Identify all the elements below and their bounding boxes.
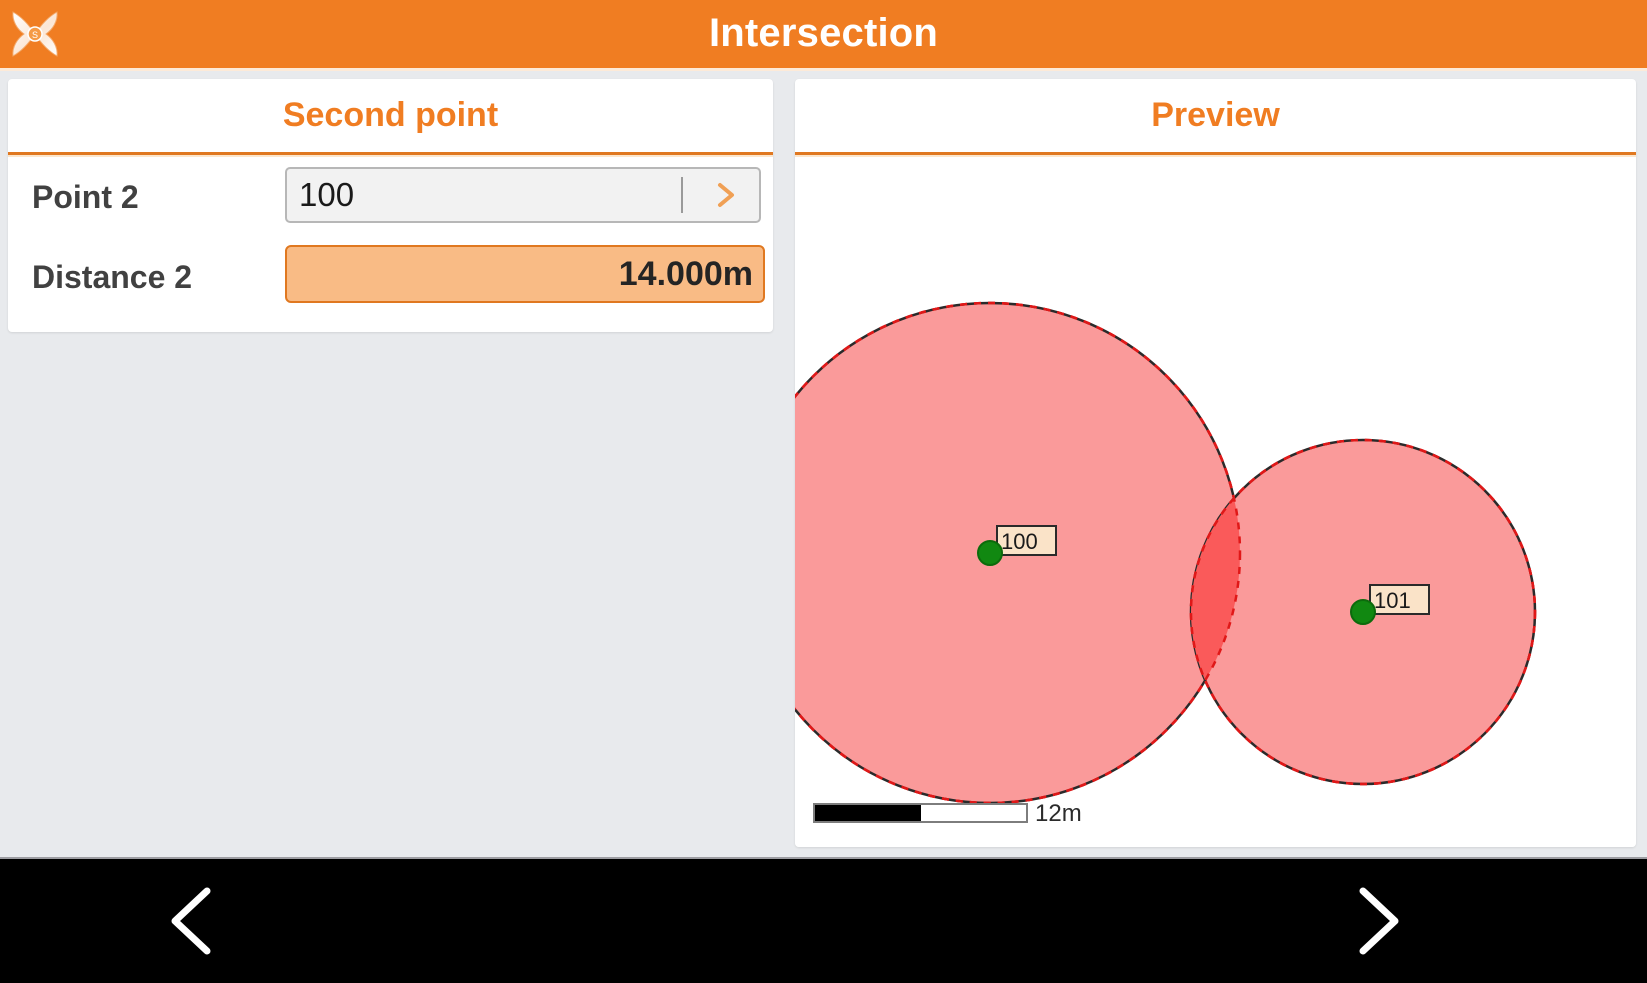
point-marker-101: [1351, 600, 1375, 624]
preview-panel-title: Preview: [795, 79, 1636, 152]
app-root: S Intersection Second point Point 2 100: [0, 0, 1647, 983]
chevron-left-icon: [135, 859, 255, 983]
point-label-100: 100: [997, 526, 1056, 555]
chevron-right-icon[interactable]: [711, 180, 741, 210]
point2-input[interactable]: 100: [285, 167, 761, 223]
preview-map-canvas[interactable]: 100 101 12m: [795, 157, 1636, 847]
chevron-right-icon: [1315, 859, 1435, 983]
panel-divider: [8, 152, 773, 155]
distance2-value: 14.000m: [619, 247, 753, 301]
point-marker-100: [978, 541, 1002, 565]
preview-panel: Preview: [795, 79, 1636, 847]
second-point-panel-title: Second point: [8, 79, 773, 152]
distance2-label: Distance 2: [32, 237, 192, 317]
scale-bar-track: [813, 803, 1028, 823]
previous-button[interactable]: [135, 859, 255, 983]
second-point-form: Point 2 100 Distance 2 14.000m: [8, 157, 773, 317]
field-separator: [681, 177, 683, 213]
point-label-101: 101: [1370, 585, 1429, 614]
next-button[interactable]: [1315, 859, 1435, 983]
second-point-panel: Second point Point 2 100 Distance: [8, 79, 773, 332]
svg-text:100: 100: [1001, 529, 1038, 554]
intersection-diagram: 100 101: [795, 157, 1636, 847]
preview-panel-divider: [795, 152, 1636, 155]
form-row-distance2: Distance 2 14.000m: [8, 237, 773, 317]
scale-bar-label: 12m: [1035, 800, 1082, 828]
title-bar: S Intersection: [0, 0, 1647, 68]
distance2-input[interactable]: 14.000m: [285, 245, 765, 303]
bottom-navigation-bar: [0, 857, 1647, 983]
window-title: Intersection: [0, 0, 1647, 68]
point2-value: 100: [299, 169, 354, 221]
scale-bar-fill: [815, 805, 921, 821]
point2-label: Point 2: [32, 157, 139, 237]
svg-text:101: 101: [1374, 588, 1411, 613]
title-bar-underline: [0, 68, 1647, 71]
form-row-point2: Point 2 100: [8, 157, 773, 237]
